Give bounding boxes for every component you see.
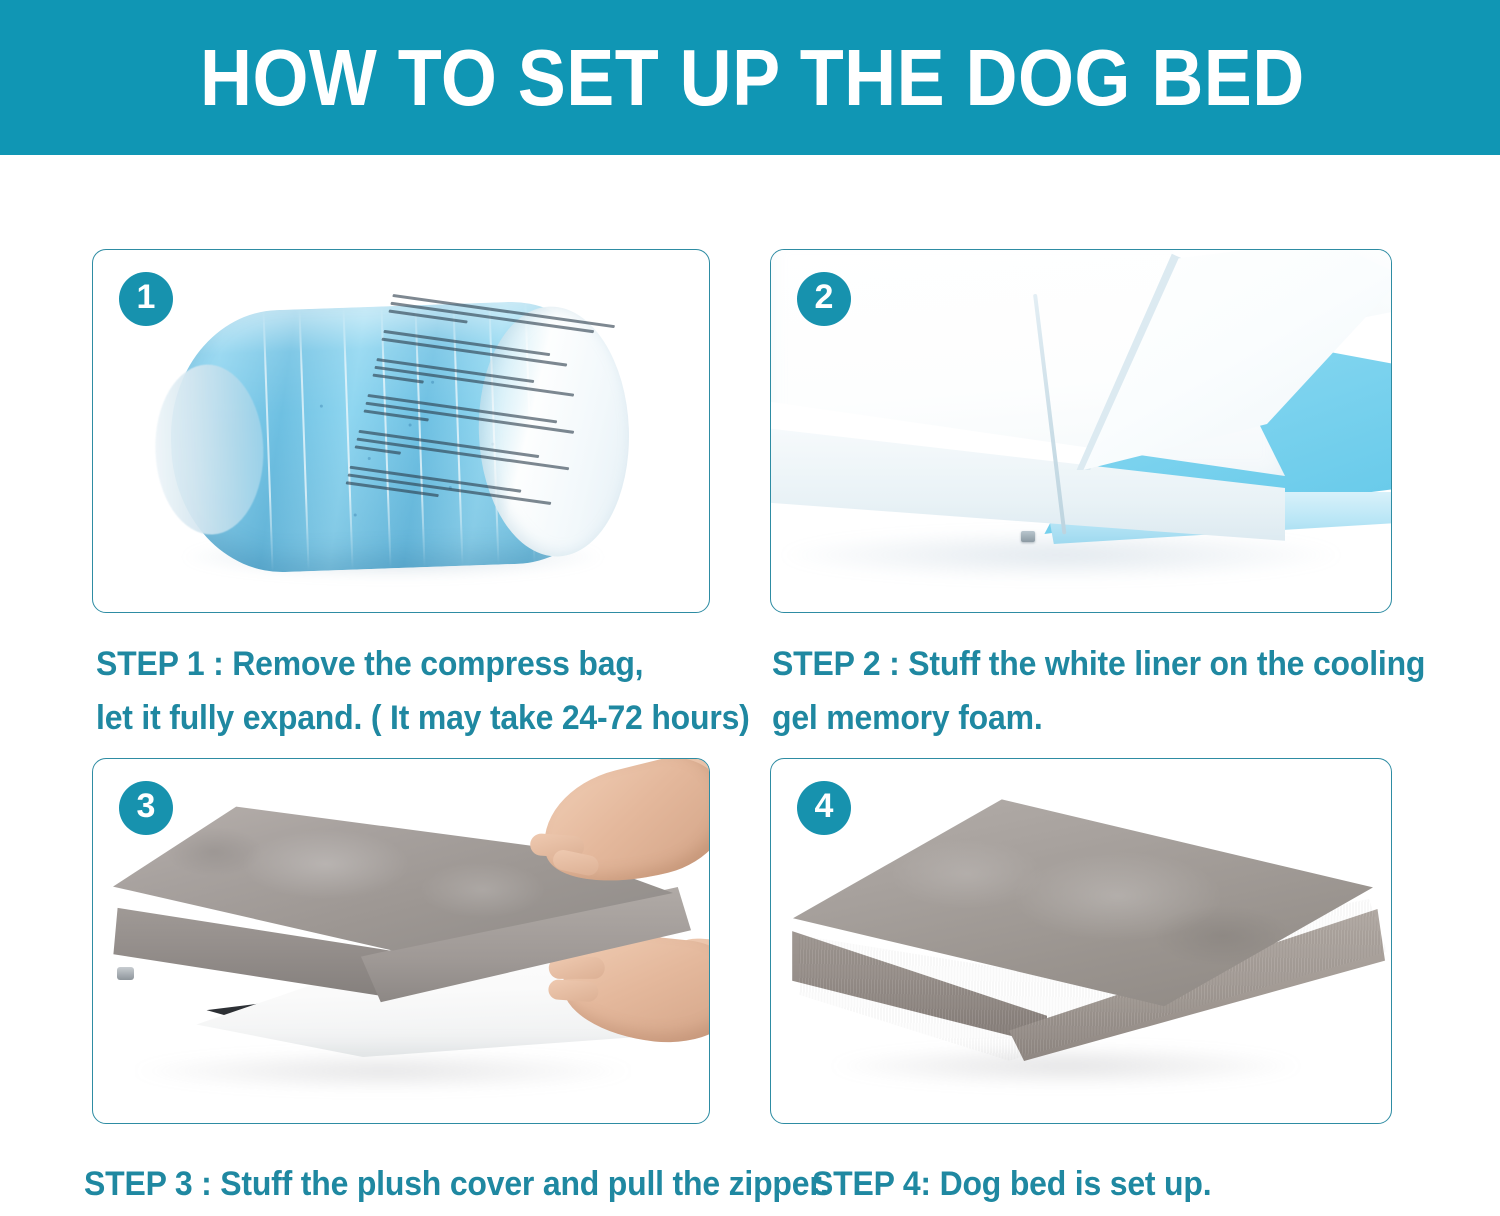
- infographic-page: HOW TO SET UP THE DOG BED: [0, 0, 1500, 1216]
- plastic-crease: [263, 311, 274, 573]
- foam-speck: [354, 513, 357, 516]
- step-badge-3: 3: [119, 781, 173, 835]
- step-badge-4: 4: [797, 781, 851, 835]
- step-1-illustration: [93, 250, 709, 612]
- step-2-caption-line-2: gel memory foam.: [772, 691, 1425, 745]
- step-2-illustration: [771, 250, 1391, 612]
- step-panel-1: 1: [92, 249, 710, 613]
- step-4-caption: STEP 4: Dog bed is set up.: [812, 1157, 1211, 1211]
- step-badge-3-number: 3: [137, 789, 156, 823]
- header-banner: HOW TO SET UP THE DOG BED: [0, 0, 1500, 155]
- step-1-caption-line-2: let it fully expand. ( It may take 24-72…: [96, 691, 750, 745]
- step-2-caption: STEP 2 : Stuff the white liner on the co…: [772, 637, 1425, 745]
- plastic-crease: [298, 309, 309, 571]
- step-badge-4-number: 4: [815, 789, 834, 823]
- page-title: HOW TO SET UP THE DOG BED: [200, 38, 1305, 118]
- step-panel-2: 2: [770, 249, 1392, 613]
- step-3-illustration: [93, 759, 709, 1123]
- step-panel-3: 3: [92, 758, 710, 1124]
- step-panel-4: 4: [770, 758, 1392, 1124]
- step-4-illustration: [771, 759, 1391, 1123]
- step-3-caption: STEP 3 : Stuff the plush cover and pull …: [84, 1157, 829, 1211]
- plastic-crease: [342, 308, 353, 570]
- step-1-caption-line-1: STEP 1 : Remove the compress bag,: [96, 637, 750, 691]
- step-4-caption-line-1: STEP 4: Dog bed is set up.: [812, 1157, 1211, 1211]
- bed-shadow: [133, 1051, 633, 1091]
- foam-speck: [320, 405, 323, 408]
- step-2-caption-line-1: STEP 2 : Stuff the white liner on the co…: [772, 637, 1425, 691]
- step-badge-2: 2: [797, 272, 851, 326]
- step-badge-1: 1: [119, 272, 173, 326]
- bed-shadow: [831, 1045, 1301, 1087]
- zipper-pull-icon: [117, 967, 134, 980]
- step-3-caption-line-1: STEP 3 : Stuff the plush cover and pull …: [84, 1157, 829, 1211]
- warning-label: [344, 294, 624, 524]
- step-badge-1-number: 1: [137, 280, 156, 314]
- zipper-pull-icon: [1021, 531, 1035, 542]
- plastic-gathered-end: [152, 363, 266, 537]
- step-badge-2-number: 2: [815, 280, 834, 314]
- finger: [548, 979, 599, 1002]
- step-1-caption: STEP 1 : Remove the compress bag, let it…: [96, 637, 750, 745]
